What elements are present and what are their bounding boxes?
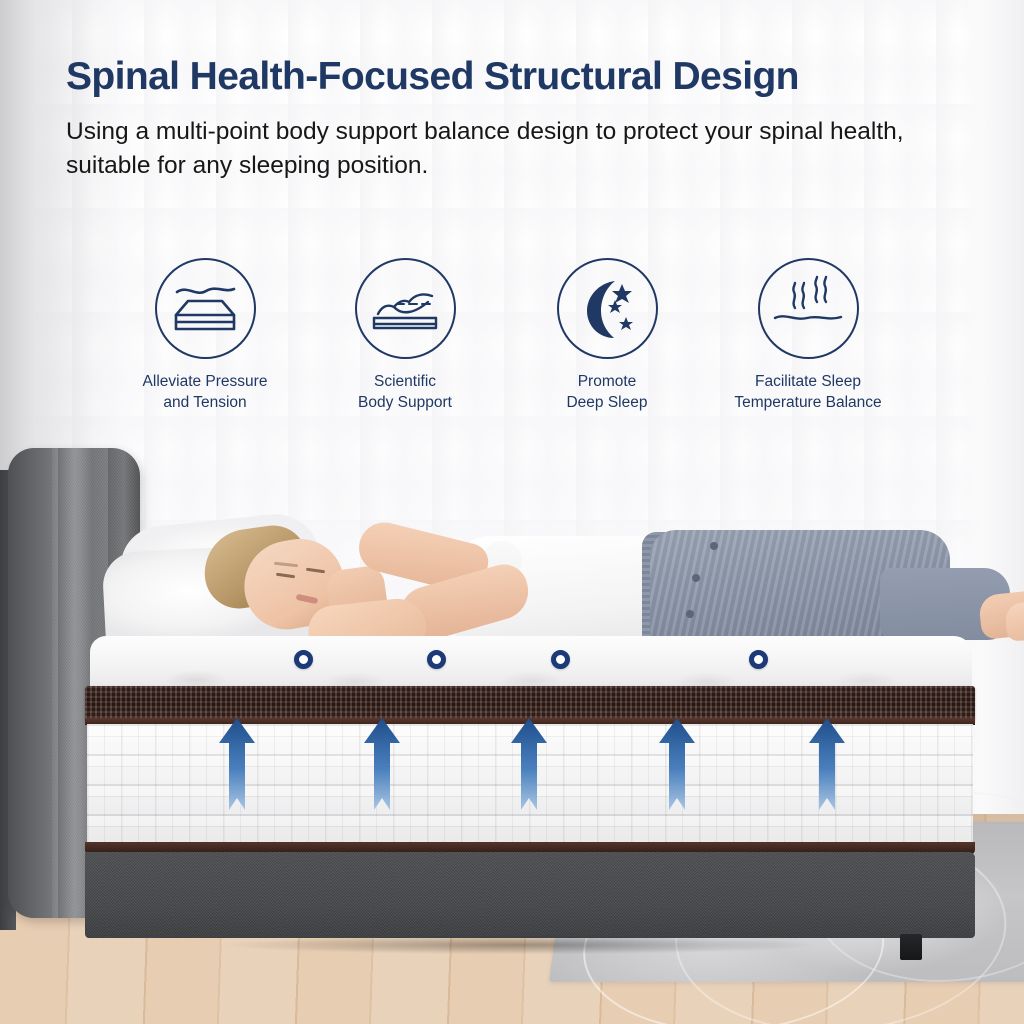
feature-label: Facilitate Sleep Temperature Balance <box>708 372 908 413</box>
support-arrow-5 <box>805 718 849 810</box>
bed-leg <box>900 934 922 960</box>
heat-waves-icon <box>758 258 859 359</box>
page-title: Spinal Health-Focused Structural Design <box>66 56 966 98</box>
feature-label: Alleviate Pressure and Tension <box>105 372 305 413</box>
body-support-icon <box>355 258 456 359</box>
pressure-point-marker-hip <box>551 650 570 669</box>
moon-stars-icon <box>557 258 658 359</box>
pants-button <box>686 610 694 618</box>
feature-temperature-balance: Facilitate Sleep Temperature Balance <box>708 250 908 413</box>
bed-floor-shadow <box>105 932 935 958</box>
mattress-pressure-icon <box>155 258 256 359</box>
mattress-pillow-top <box>90 636 972 692</box>
feature-label: Scientific Body Support <box>305 372 505 413</box>
support-arrow-1 <box>215 718 259 810</box>
pants-button <box>710 542 718 550</box>
feature-icon-row: Alleviate Pressure and Tension Scientifi… <box>0 250 1024 425</box>
pants-button <box>692 574 700 582</box>
feature-promote-deep-sleep: Promote Deep Sleep <box>507 250 707 413</box>
support-arrow-2 <box>360 718 404 810</box>
pressure-point-marker-shoulder <box>294 650 313 669</box>
feature-alleviate-pressure: Alleviate Pressure and Tension <box>105 250 305 413</box>
bed-base <box>85 852 975 938</box>
support-arrow-3 <box>507 718 551 810</box>
headboard-front-edge <box>8 448 52 918</box>
mattress-mesh-band <box>85 686 975 722</box>
support-arrow-4 <box>655 718 699 810</box>
pressure-point-marker-waist <box>427 650 446 669</box>
pressure-point-marker-knee <box>749 650 768 669</box>
product-feature-image: Spinal Health-Focused Structural Design … <box>0 0 1024 1024</box>
feature-label: Promote Deep Sleep <box>507 372 707 413</box>
page-subtitle: Using a multi-point body support balance… <box>66 115 946 182</box>
feature-scientific-body-support: Scientific Body Support <box>305 250 505 413</box>
